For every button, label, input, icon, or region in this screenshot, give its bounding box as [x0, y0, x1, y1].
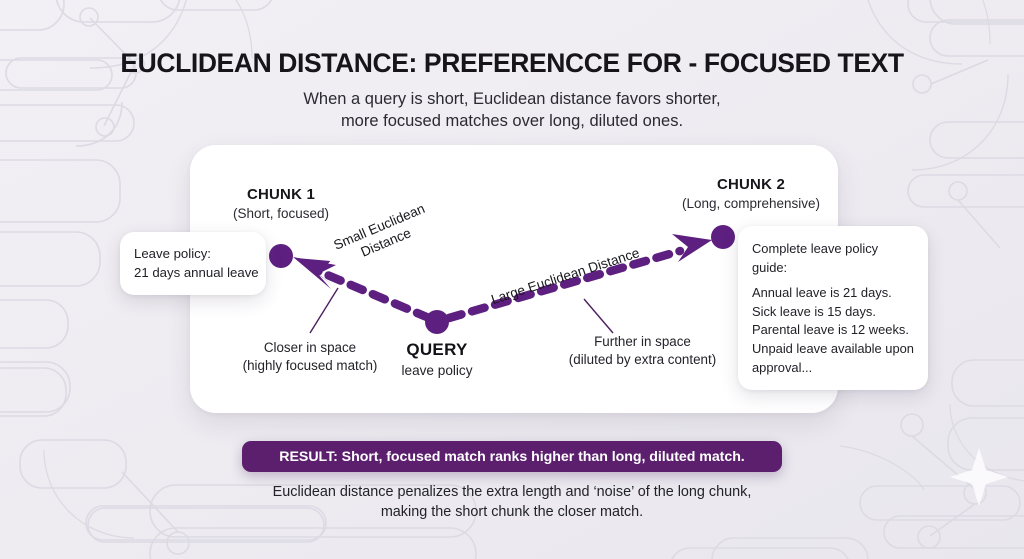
chunk1-heading: CHUNK 1 (Short, focused) — [186, 186, 376, 221]
chunk2-callout-line-5: approval... — [752, 359, 914, 378]
footer-line-1: Euclidean distance penalizes the extra l… — [0, 482, 1024, 502]
chunk2-annotation-line-2: (diluted by extra content) — [525, 351, 760, 369]
chunk2-callout: Complete leave policy guide: Annual leav… — [738, 226, 928, 390]
chunk2-title: CHUNK 2 — [663, 176, 839, 193]
page-subtitle: When a query is short, Euclidean distanc… — [0, 88, 1024, 132]
chunk2-annotation: Further in space (diluted by extra conte… — [525, 333, 760, 369]
footer-line-2: making the short chunk the closer match. — [0, 502, 1024, 522]
chunk2-callout-line-4: Unpaid leave available upon — [752, 340, 914, 359]
chunk2-callout-line-2: Sick leave is 15 days. — [752, 303, 914, 322]
subtitle-line-1: When a query is short, Euclidean distanc… — [0, 88, 1024, 110]
chunk2-callout-line-1: Annual leave is 21 days. — [752, 284, 914, 303]
chunk1-title: CHUNK 1 — [186, 186, 376, 203]
chunk1-callout-line-2: 21 days annual leave — [134, 264, 252, 283]
subtitle-line-2: more focused matches over long, diluted … — [0, 110, 1024, 132]
footer-note: Euclidean distance penalizes the extra l… — [0, 482, 1024, 522]
chunk2-subtitle: (Long, comprehensive) — [663, 196, 839, 211]
chunk2-heading: CHUNK 2 (Long, comprehensive) — [663, 176, 839, 211]
chunk1-callout: Leave policy: 21 days annual leave — [120, 232, 266, 295]
query-text: leave policy — [366, 363, 508, 378]
result-banner: RESULT: Short, focused match ranks highe… — [242, 441, 782, 472]
query-label: QUERY — [366, 340, 508, 360]
query-annotation: QUERY leave policy — [366, 340, 508, 378]
chunk2-callout-line-3: Parental leave is 12 weeks. — [752, 321, 914, 340]
chunk2-callout-lead: Complete leave policy guide: — [752, 240, 914, 277]
chunk1-subtitle: (Short, focused) — [186, 206, 376, 221]
chunk2-annotation-line-1: Further in space — [525, 333, 760, 351]
chunk1-callout-line-1: Leave policy: — [134, 245, 252, 264]
page-title: EUCLIDEAN DISTANCE: PREFERENCCE FOR - FO… — [0, 48, 1024, 79]
